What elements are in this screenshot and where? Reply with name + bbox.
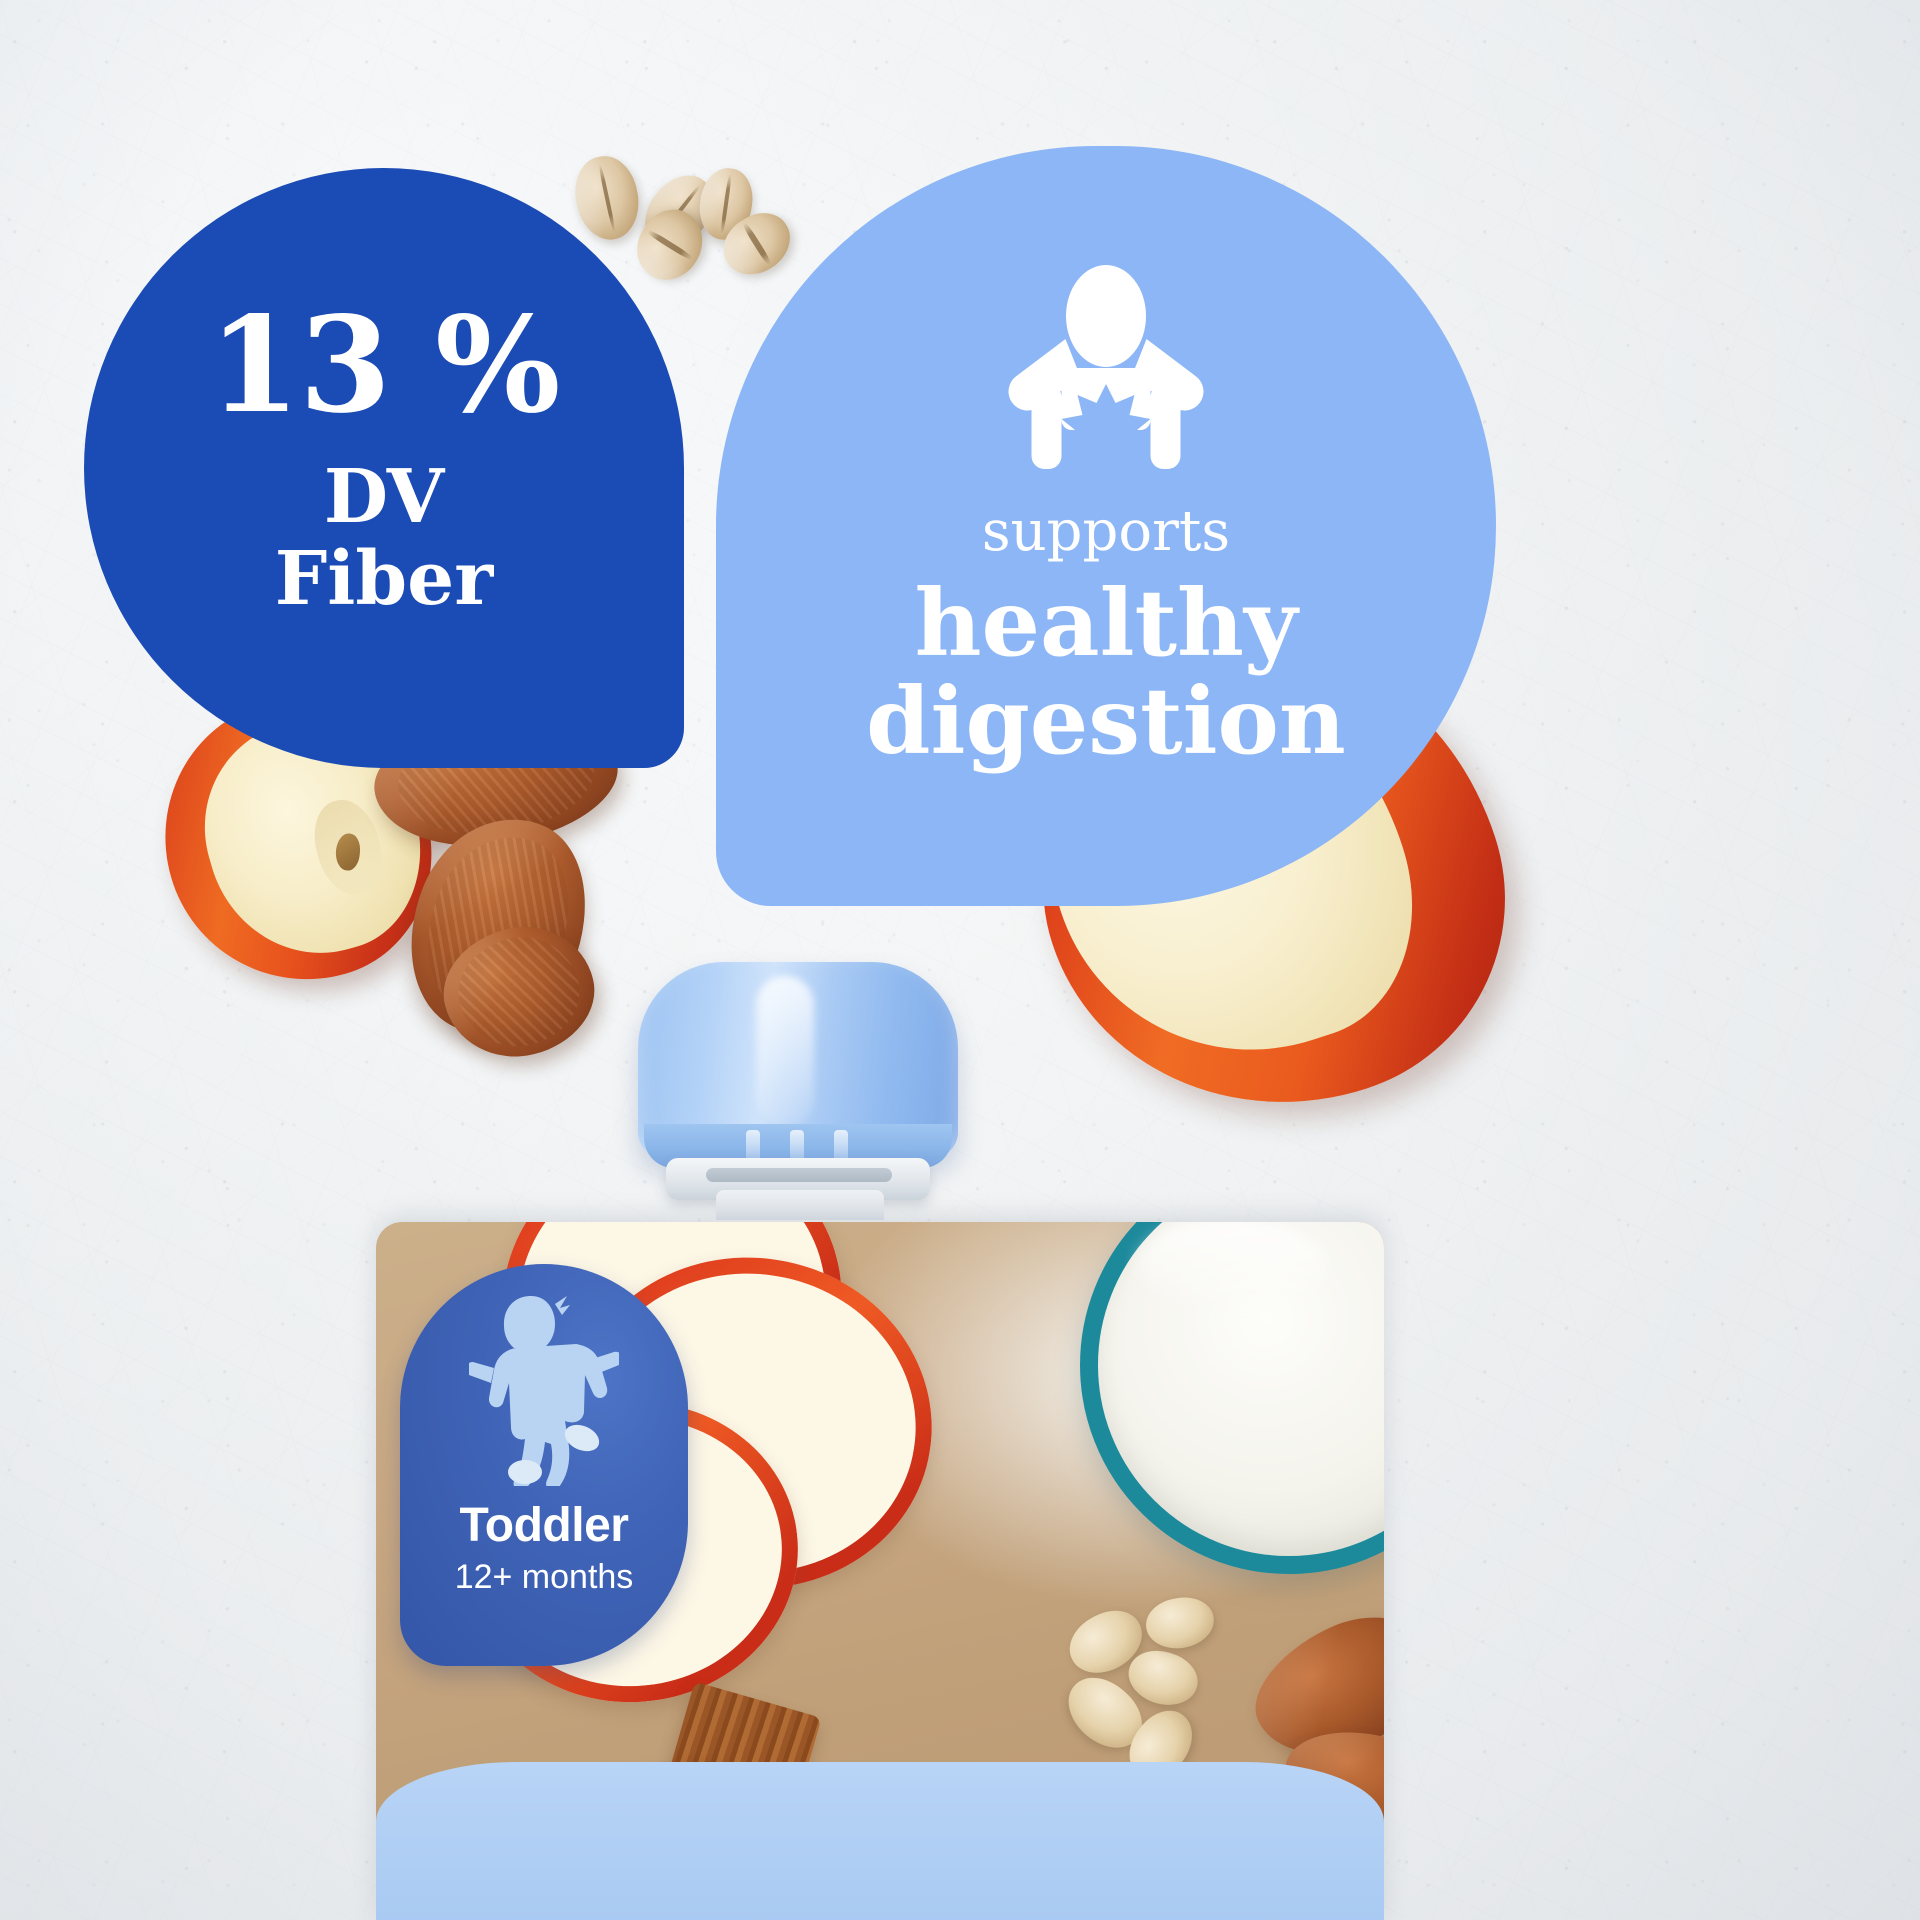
- pouch-spout-cap: [638, 962, 958, 1220]
- digestion-line-one: healthy: [716, 576, 1496, 672]
- digestion-lead-text: supports: [716, 504, 1496, 560]
- pouch-blue-panel: [376, 1762, 1384, 1920]
- child-raised-arms-tummy-icon: [999, 264, 1214, 469]
- fiber-nutrient-label: Fiber: [84, 540, 684, 618]
- cap-neck: [716, 1190, 884, 1220]
- digestion-line-two: digestion: [716, 674, 1496, 770]
- fiber-claim-badge: 13 % DV Fiber: [84, 168, 684, 768]
- cap-flange-slot: [706, 1168, 892, 1182]
- toddler-walking-icon: [469, 1290, 619, 1486]
- toddler-age-badge: Toddler 12+ months: [400, 1264, 688, 1666]
- toddler-label: Toddler: [400, 1502, 688, 1550]
- toddler-age-range: 12+ months: [400, 1560, 688, 1594]
- cap-highlight: [756, 976, 814, 1126]
- fiber-dv-label: DV: [84, 458, 684, 536]
- digestion-claim-badge: supports healthy digestion: [716, 146, 1496, 906]
- product-marketing-panel: 13 % DV Fiber supports healthy digestion: [0, 0, 1920, 1920]
- yogurt-highlight: [1136, 1222, 1326, 1314]
- fiber-percent-value: 13 %: [84, 300, 684, 432]
